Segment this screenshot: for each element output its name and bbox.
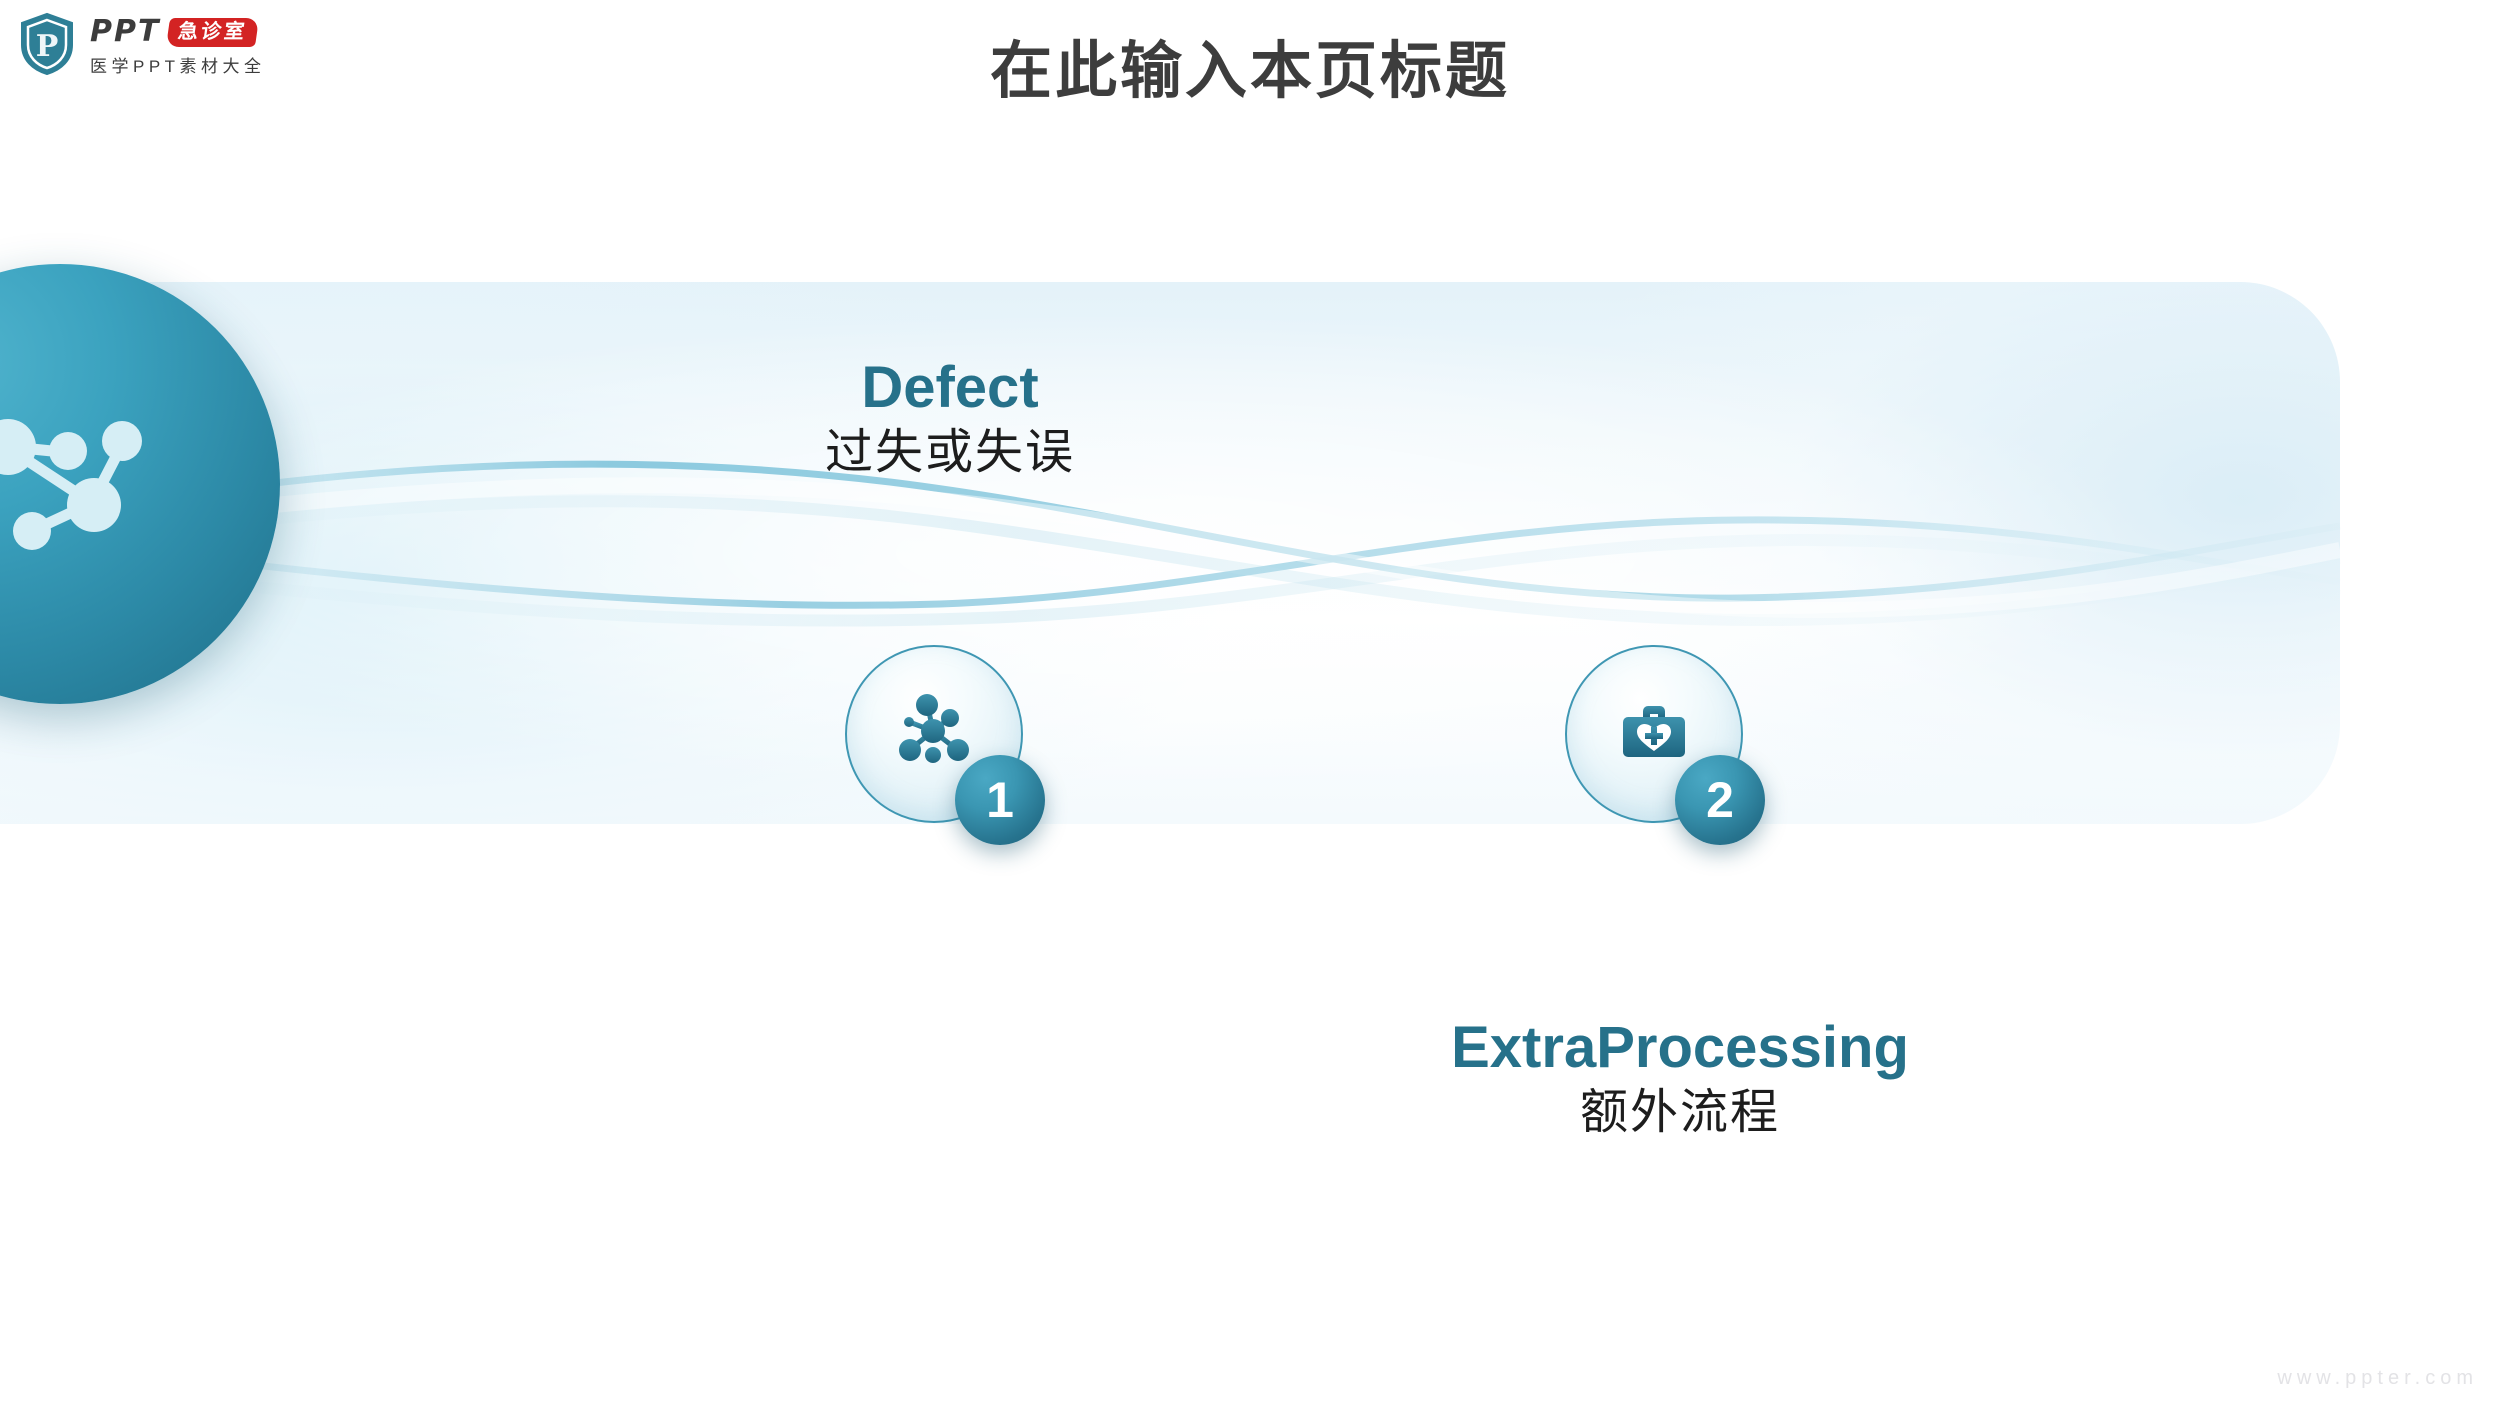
page-title: 在此输入本页标题 xyxy=(0,38,2500,106)
step-1-label-block: Defect 过失或失误 xyxy=(720,355,1180,484)
step-1-title-en: Defect xyxy=(720,355,1180,422)
network-nodes-icon xyxy=(0,407,150,562)
step-2-title-cn: 额外流程 xyxy=(1300,1082,2060,1144)
step-node-2-badge: 2 xyxy=(1675,755,1765,845)
molecule-network-icon xyxy=(895,693,973,776)
step-node-1-badge: 1 xyxy=(955,755,1045,845)
step-node-1[interactable]: 1 xyxy=(845,645,1023,823)
footer-watermark: www.ppter.com xyxy=(2277,1367,2478,1390)
medical-briefcase-heart-icon xyxy=(1615,693,1693,776)
step-node-2[interactable]: 2 xyxy=(1565,645,1743,823)
step-2-label-block: ExtraProcessing 额外流程 xyxy=(1300,1015,2060,1144)
step-1-title-cn: 过失或失误 xyxy=(720,422,1180,484)
step-2-title-en: ExtraProcessing xyxy=(1300,1015,2060,1082)
